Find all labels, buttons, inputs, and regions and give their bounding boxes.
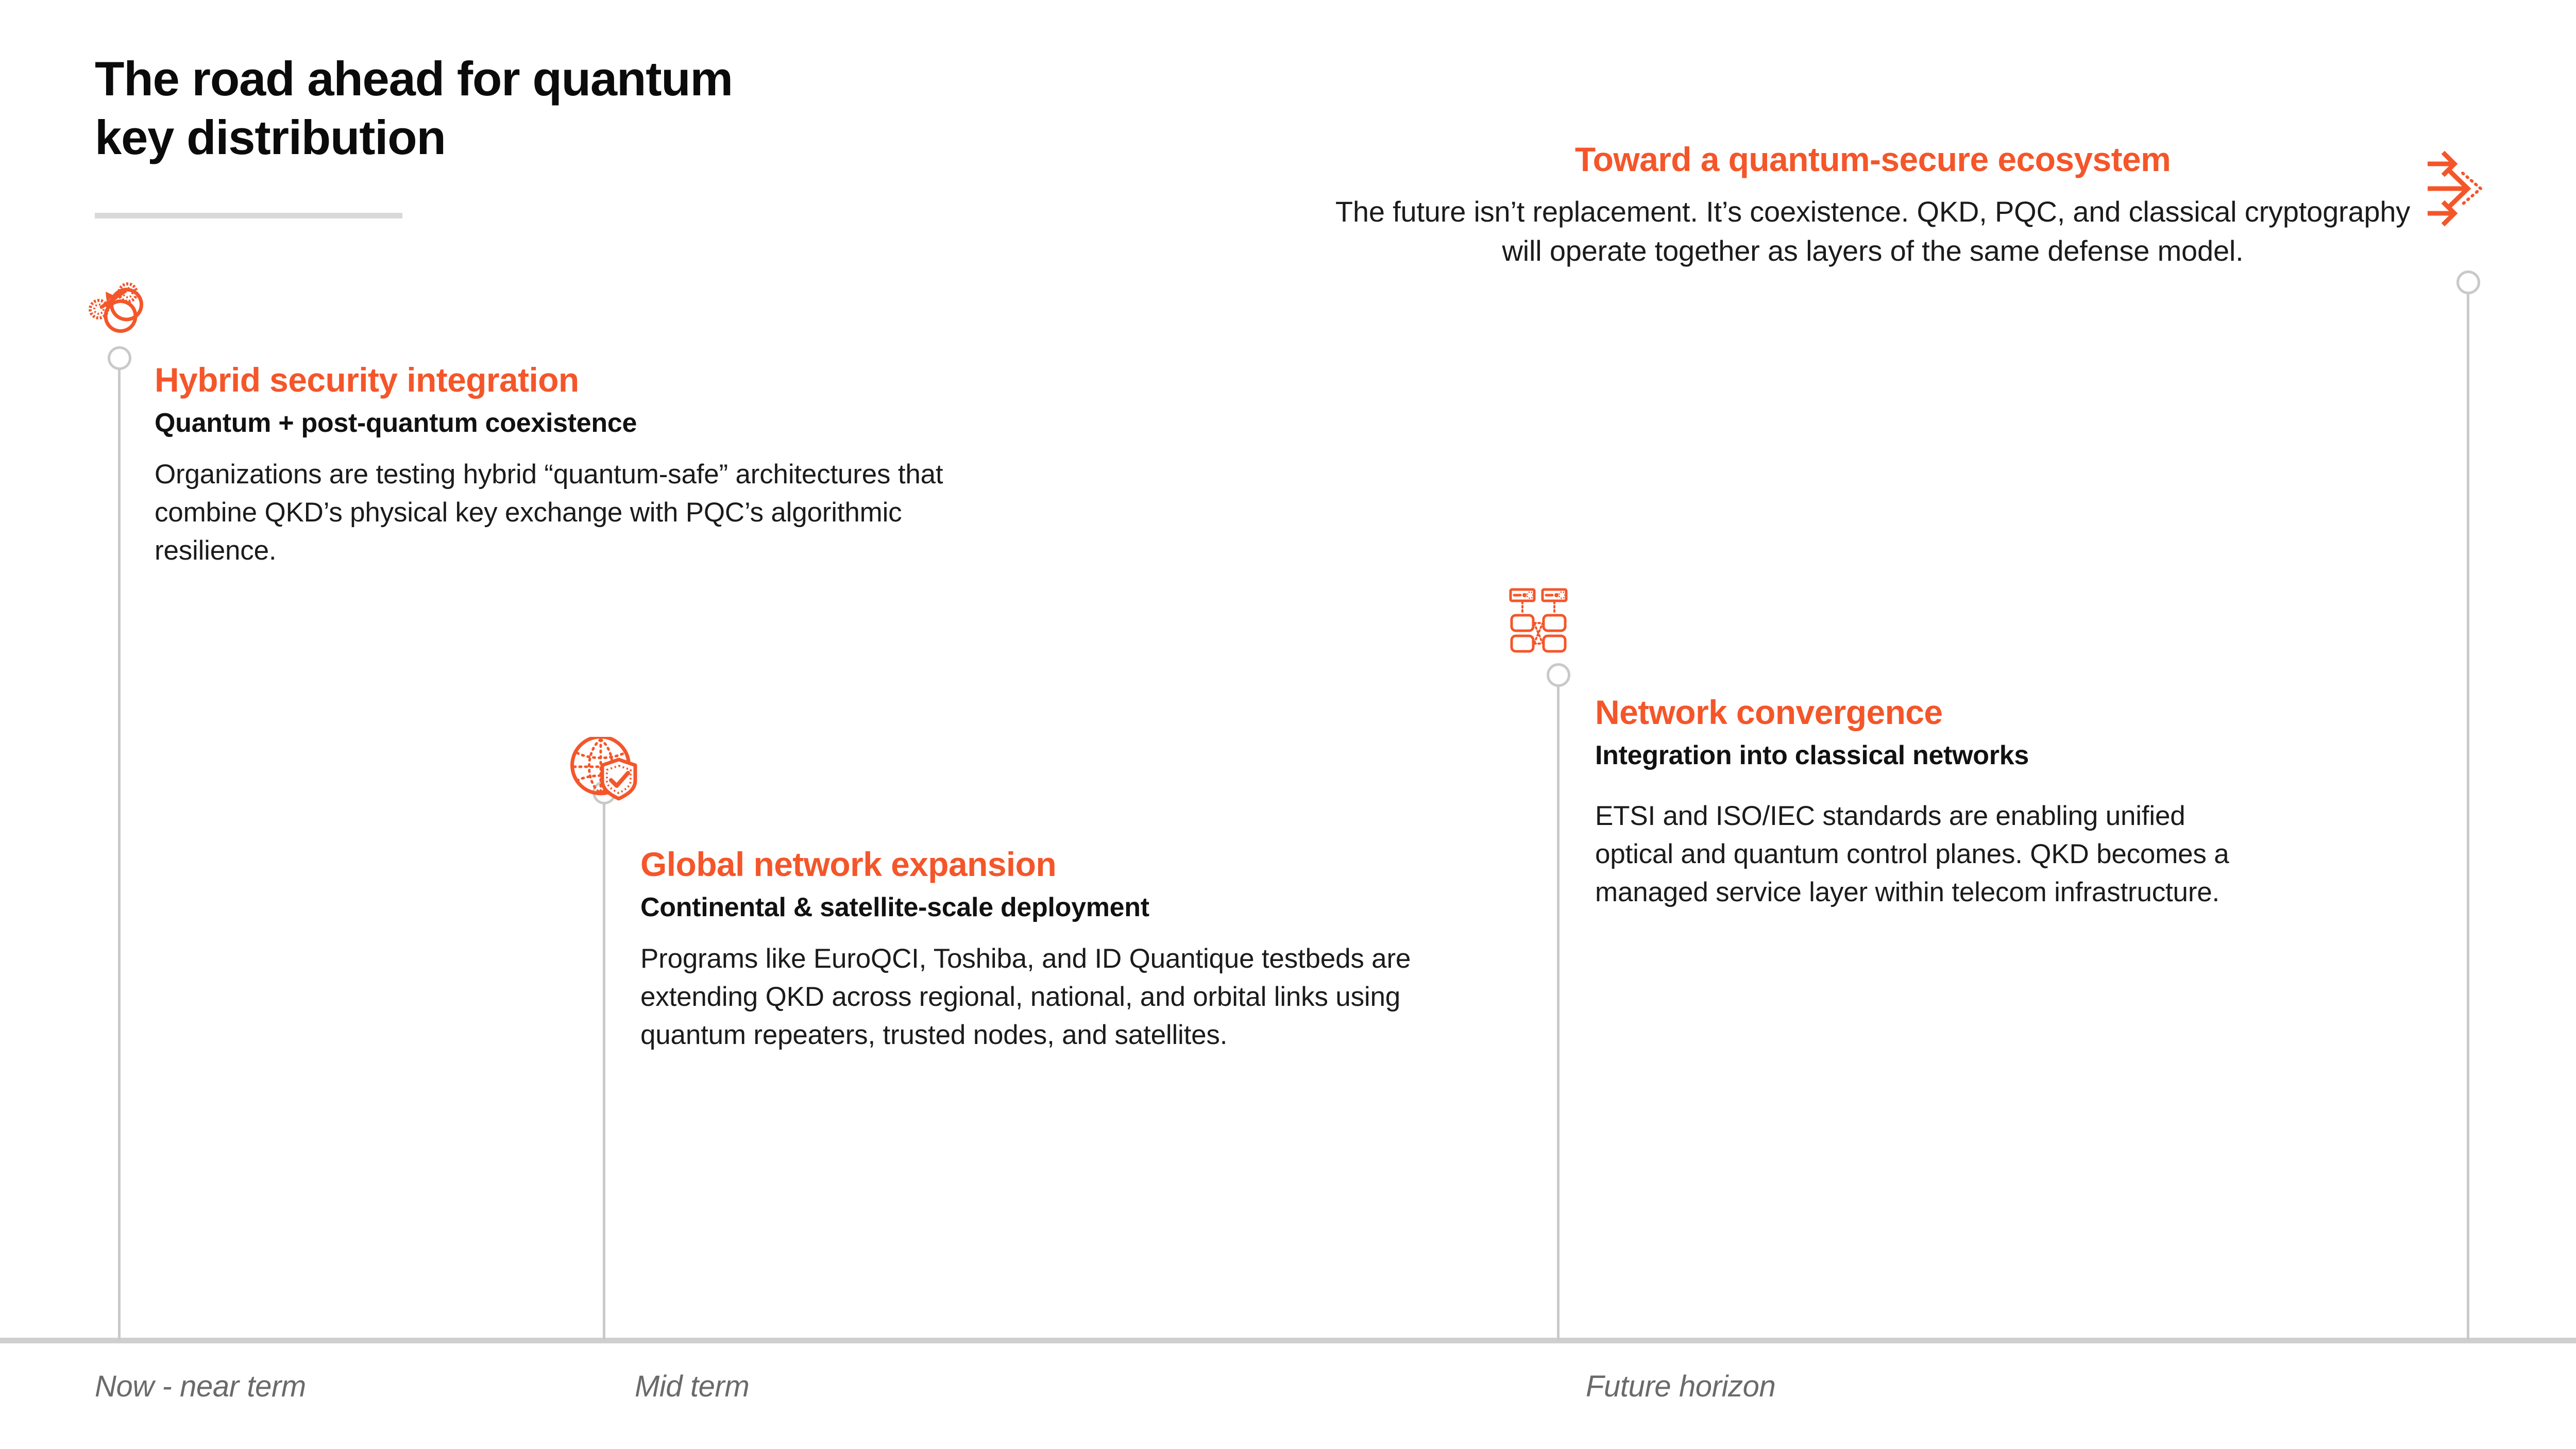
timeline-stem-1	[118, 368, 121, 1340]
milestone-subtitle: Continental & satellite-scale deployment	[640, 891, 1264, 924]
timeline-label-now: Now - near term	[95, 1369, 306, 1404]
milestone-body: Programs like EuroQCI, Toshiba, and ID Q…	[640, 940, 1465, 1055]
title-divider	[95, 213, 402, 218]
milestone-block-hybrid-security-integration: Hybrid security integration Quantum + po…	[155, 361, 1020, 570]
milestone-body: ETSI and ISO/IEC standards are enabling …	[1595, 797, 2234, 912]
timeline-stem-2	[603, 803, 605, 1340]
milestone-eyebrow: Toward a quantum-secure ecosystem	[1293, 140, 2452, 179]
milestone-body: Organizations are testing hybrid “quantu…	[155, 456, 999, 570]
hybrid-coexistence-icon	[77, 272, 149, 344]
timeline-label-future: Future horizon	[1586, 1369, 1775, 1404]
timeline-stem-4	[2467, 293, 2469, 1340]
globe-shield-check-icon	[566, 737, 643, 804]
milestone-subtitle: Integration into classical networks	[1595, 739, 2368, 772]
timeline-node-1[interactable]	[108, 346, 131, 370]
timeline-stem-3	[1557, 685, 1560, 1340]
milestone-block-network-convergence: Network convergence Integration into cla…	[1595, 693, 2368, 912]
milestone-eyebrow: Global network expansion	[640, 845, 1485, 884]
milestone-eyebrow: Network convergence	[1595, 693, 2368, 732]
milestone-subtitle: Quantum + post-quantum coexistence	[155, 407, 1020, 440]
timeline-axis	[0, 1338, 2576, 1343]
timeline-label-mid: Mid term	[635, 1369, 749, 1404]
infographic-canvas: The road ahead for quantum key distribut…	[0, 0, 2576, 1449]
milestone-eyebrow: Hybrid security integration	[155, 361, 1020, 399]
timeline-node-4[interactable]	[2456, 271, 2480, 294]
timeline-node-3[interactable]	[1547, 663, 1570, 687]
page-title: The road ahead for quantum key distribut…	[95, 49, 1022, 166]
milestone-block-global-network-expansion: Global network expansion Continental & s…	[640, 845, 1485, 1054]
milestone-block-toward-quantum-secure-ecosystem: Toward a quantum-secure ecosystem The fu…	[1293, 140, 2452, 271]
milestone-body: The future isn’t replacement. It’s coexi…	[1324, 192, 2421, 271]
network-topology-icon	[1509, 587, 1570, 654]
